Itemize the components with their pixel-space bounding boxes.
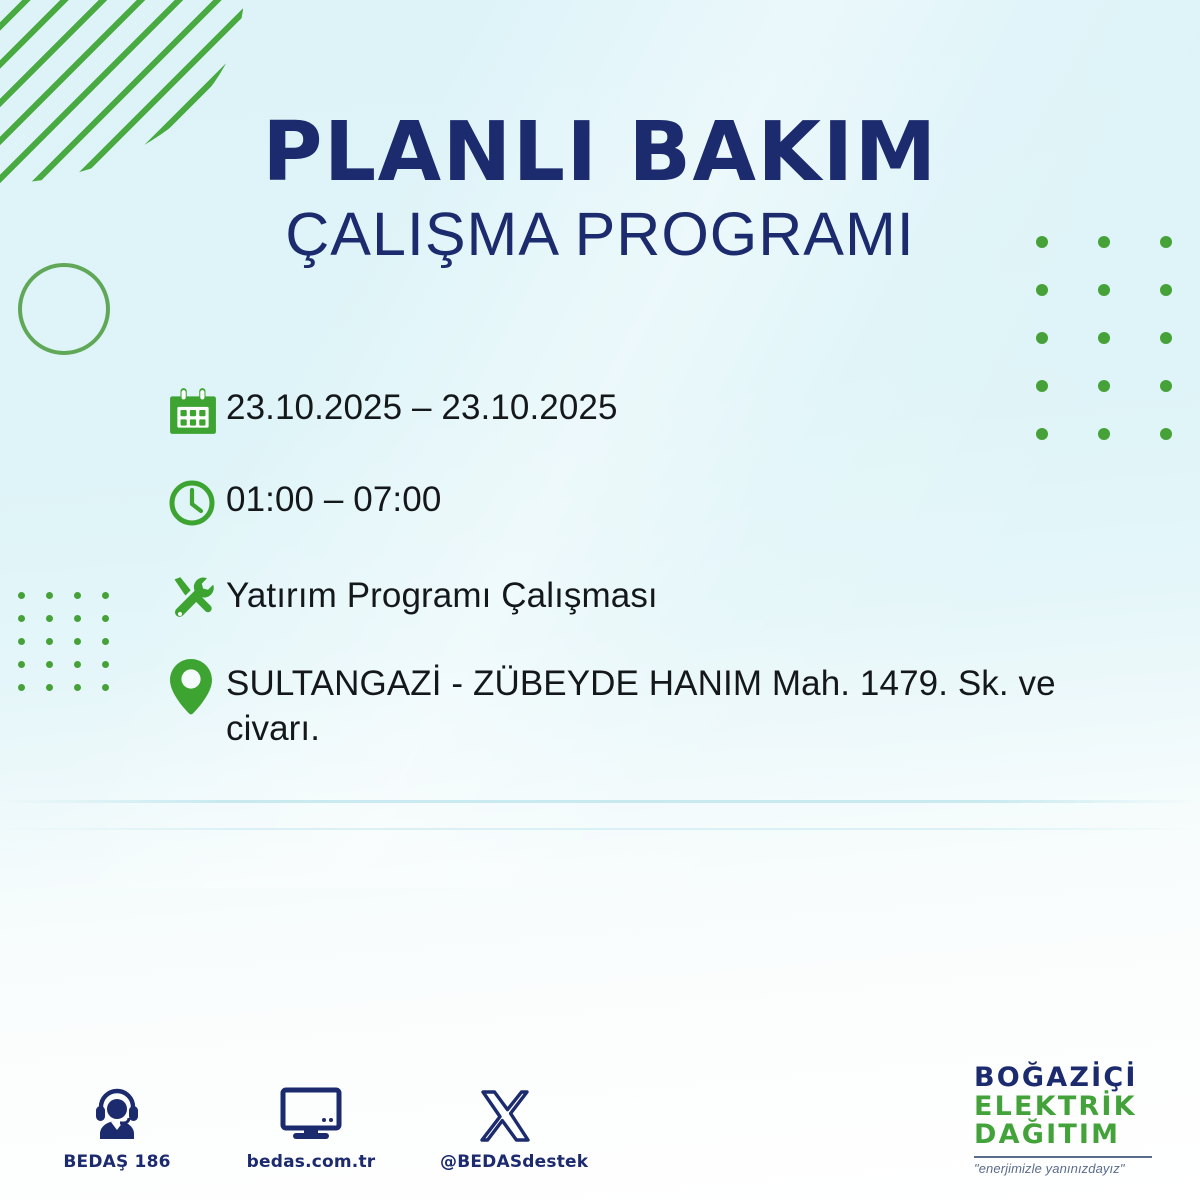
contact-x-label: @BEDASdestek xyxy=(440,1152,570,1172)
circle-outline-decoration xyxy=(18,263,110,355)
tools-icon xyxy=(168,568,226,630)
info-list: 23.10.2025 – 23.10.2025 01:00 – 07:00 xyxy=(168,380,1148,774)
contact-website[interactable]: bedas.com.tr xyxy=(246,1081,376,1172)
logo-divider xyxy=(974,1156,1152,1158)
map-pin-icon xyxy=(168,656,226,718)
logo-tagline: "enerjimizle yanınızdayız" xyxy=(974,1161,1174,1176)
dot-grid-left-decoration xyxy=(18,592,130,707)
logo-line-elektrik: ELEKTRİK xyxy=(974,1093,1174,1122)
logo-line-dagitim: DAĞITIM xyxy=(974,1121,1174,1150)
monitor-icon xyxy=(246,1081,376,1143)
footer: BEDAŞ 186 bedas.com.tr xyxy=(0,1000,1200,1200)
info-row-date: 23.10.2025 – 23.10.2025 xyxy=(168,380,1148,442)
work-type-value: Yatırım Programı Çalışması xyxy=(226,568,1148,619)
info-row-location: SULTANGAZİ - ZÜBEYDE HANIM Mah. 1479. Sk… xyxy=(168,656,1148,752)
date-range-value: 23.10.2025 – 23.10.2025 xyxy=(226,380,1148,431)
company-logo: BOĞAZİÇİ ELEKTRİK DAĞITIM "enerjimizle y… xyxy=(974,1064,1174,1176)
time-range-value: 01:00 – 07:00 xyxy=(226,472,1148,523)
clock-icon xyxy=(168,472,226,534)
page-title: PLANLI BAKIM ÇALIŞMA PROGRAMI xyxy=(0,112,1200,265)
contact-call-center[interactable]: BEDAŞ 186 xyxy=(52,1081,182,1172)
contact-x-account[interactable]: @BEDASdestek xyxy=(440,1081,570,1172)
contact-call-center-label: BEDAŞ 186 xyxy=(52,1152,182,1172)
title-line-primary: PLANLI BAKIM xyxy=(0,112,1200,194)
background-band-upper xyxy=(0,800,1200,803)
info-row-time: 01:00 – 07:00 xyxy=(168,472,1148,534)
headset-operator-icon xyxy=(52,1081,182,1143)
title-line-secondary: ÇALIŞMA PROGRAMI xyxy=(0,204,1200,265)
calendar-icon xyxy=(168,380,226,442)
x-twitter-icon xyxy=(440,1081,570,1143)
contact-list: BEDAŞ 186 bedas.com.tr xyxy=(52,1081,570,1172)
logo-line-bogazici: BOĞAZİÇİ xyxy=(974,1064,1174,1093)
contact-website-label: bedas.com.tr xyxy=(246,1152,376,1172)
poster-canvas: PLANLI BAKIM ÇALIŞMA PROGRAMI xyxy=(0,0,1200,1200)
info-row-work-type: Yatırım Programı Çalışması xyxy=(168,568,1148,630)
location-value: SULTANGAZİ - ZÜBEYDE HANIM Mah. 1479. Sk… xyxy=(226,656,1106,752)
background-band-lower xyxy=(0,828,1200,830)
